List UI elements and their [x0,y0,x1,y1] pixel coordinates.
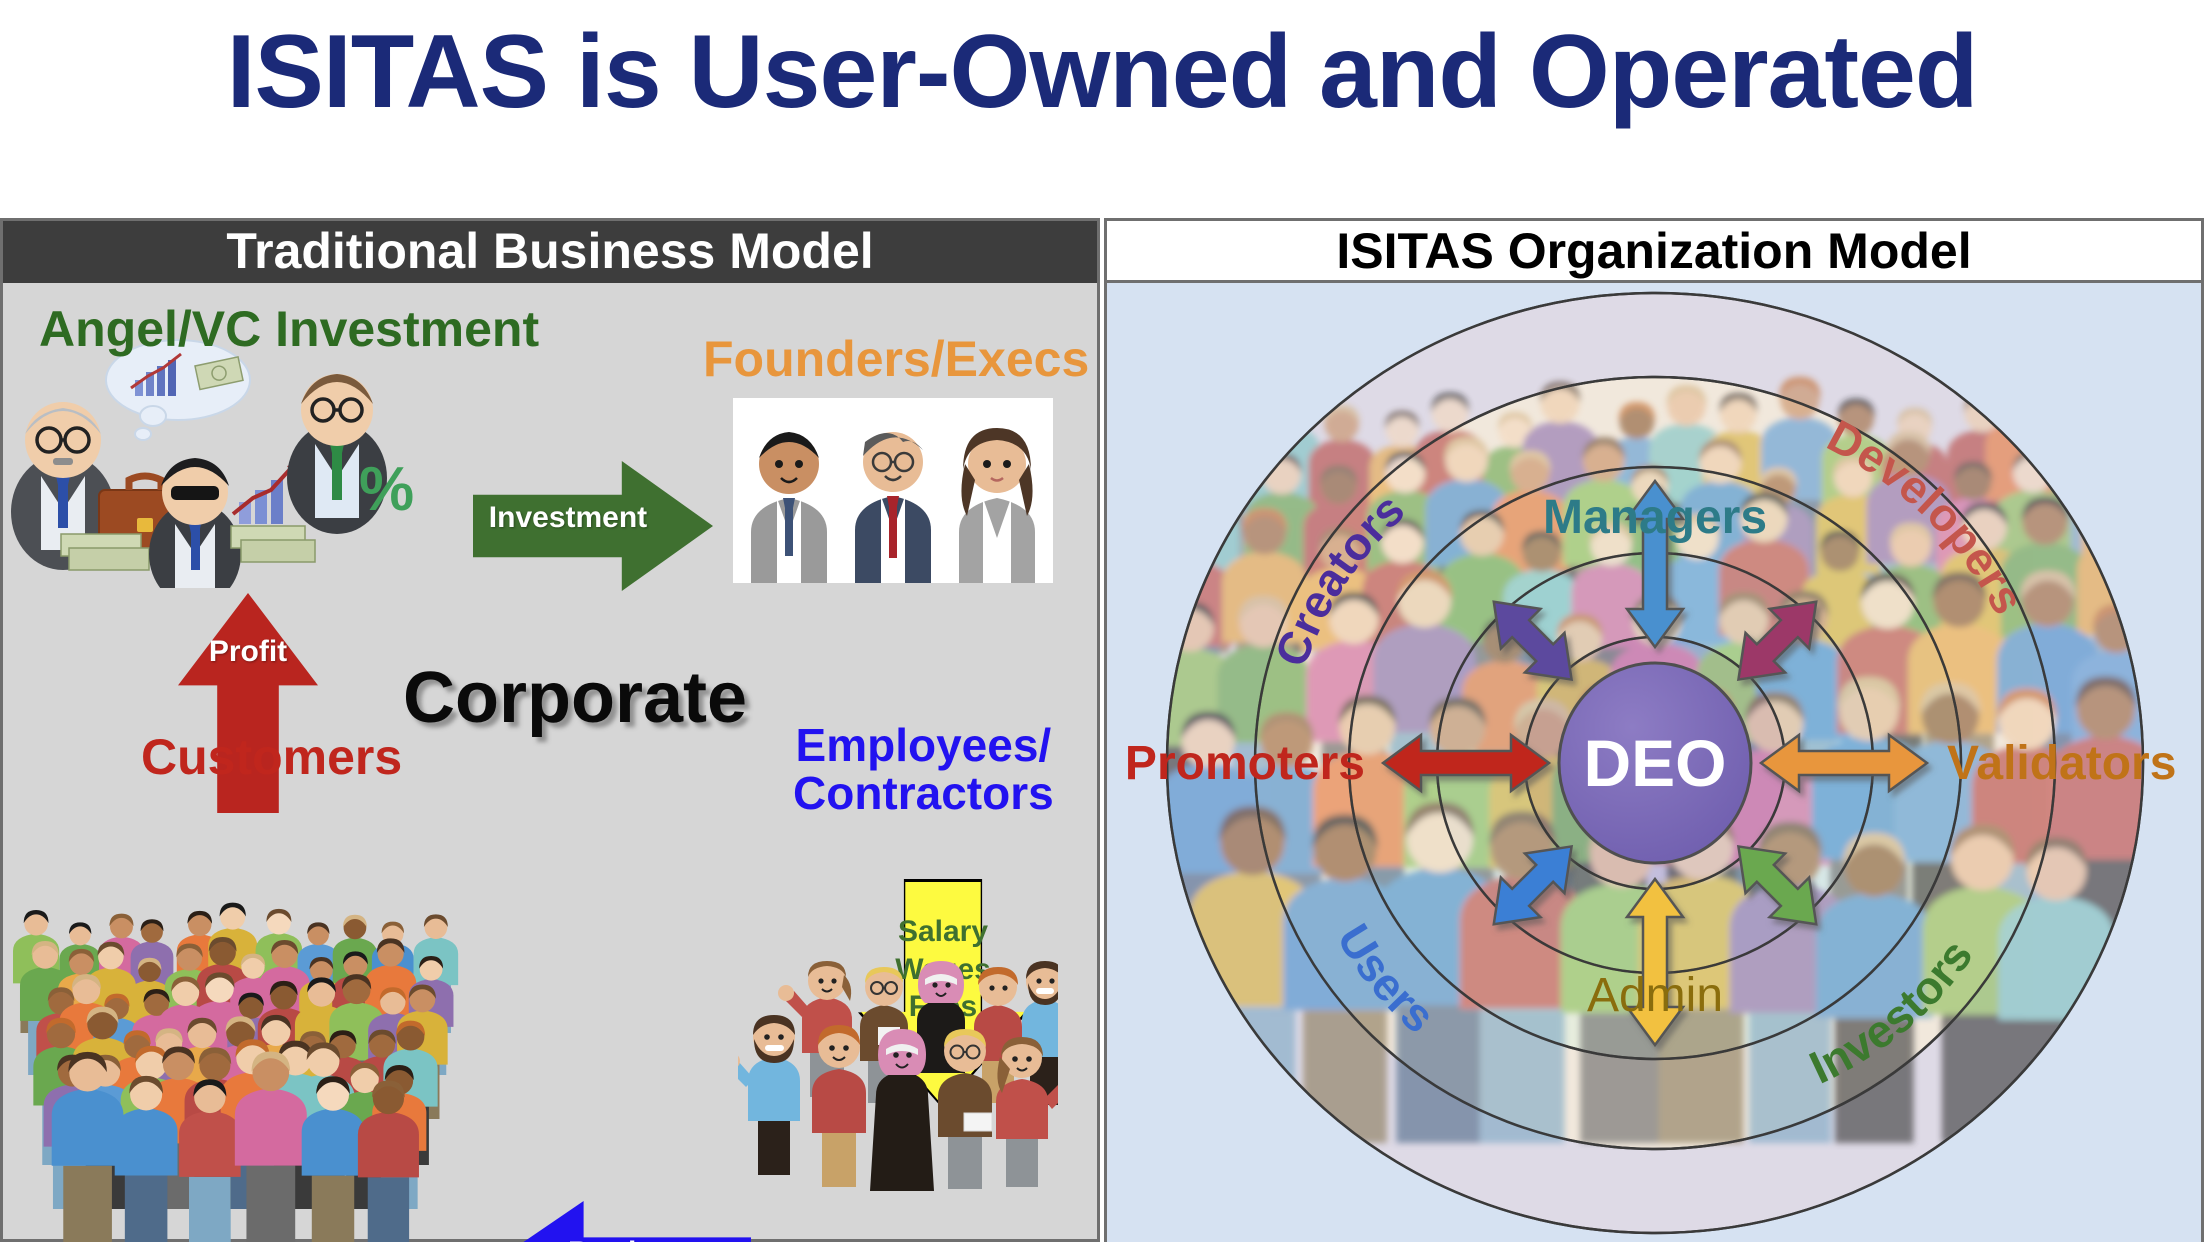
panel-body-isitas: DEO Managers Admin Promoters Validators [1107,283,2201,1242]
employees-contractors-illustration [738,953,1058,1238]
employees-line-2: Contractors [793,769,1054,817]
customers-crowd-illustration [13,883,463,1242]
investment-arrow-label: Investment [473,501,663,535]
angel-investors-illustration: % [3,338,433,588]
deo-label: DEO [1583,726,1726,800]
role-label-promoters: Promoters [1125,737,1365,790]
deo-center: DEO [1559,663,1751,863]
traditional-business-model-panel: Traditional Business Model [0,218,1100,1242]
products-services-arrow-label: Products Services [523,1233,743,1242]
panel-header-isitas: ISITAS Organization Model [1107,221,2201,283]
employees-contractors-label: Employees/ Contractors [793,721,1054,818]
slide-canvas: ISITAS is User-Owned and Operated Tradit… [0,0,2204,1242]
angel-vc-investment-label: Angel/VC Investment [39,303,539,356]
customers-label: Customers [141,731,402,784]
products-line-1: Products [523,1233,743,1242]
isitas-organization-model-panel: ISITAS Organization Model [1104,218,2204,1242]
employees-line-1: Employees/ [793,721,1054,769]
role-label-managers: Managers [1543,491,1767,544]
panel-header-traditional: Traditional Business Model [3,221,1097,283]
page-title: ISITAS is User-Owned and Operated [0,18,2204,127]
profit-arrow-label: Profit [178,635,318,669]
org-model-diagram: DEO Managers Admin Promoters Validators [1107,283,2201,1242]
panel-body-traditional: % Angel/VC Investment Founders/Execs Inv… [3,283,1097,1242]
salary-line-1: Salary [858,913,1028,951]
role-label-admin: Admin [1587,969,1723,1022]
corporate-label: Corporate [403,661,747,737]
svg-text:%: % [359,455,414,524]
founders-execs-label: Founders/Execs [703,333,1089,386]
role-label-validators: Validators [1947,737,2176,790]
founders-execs-photo [733,398,1053,583]
